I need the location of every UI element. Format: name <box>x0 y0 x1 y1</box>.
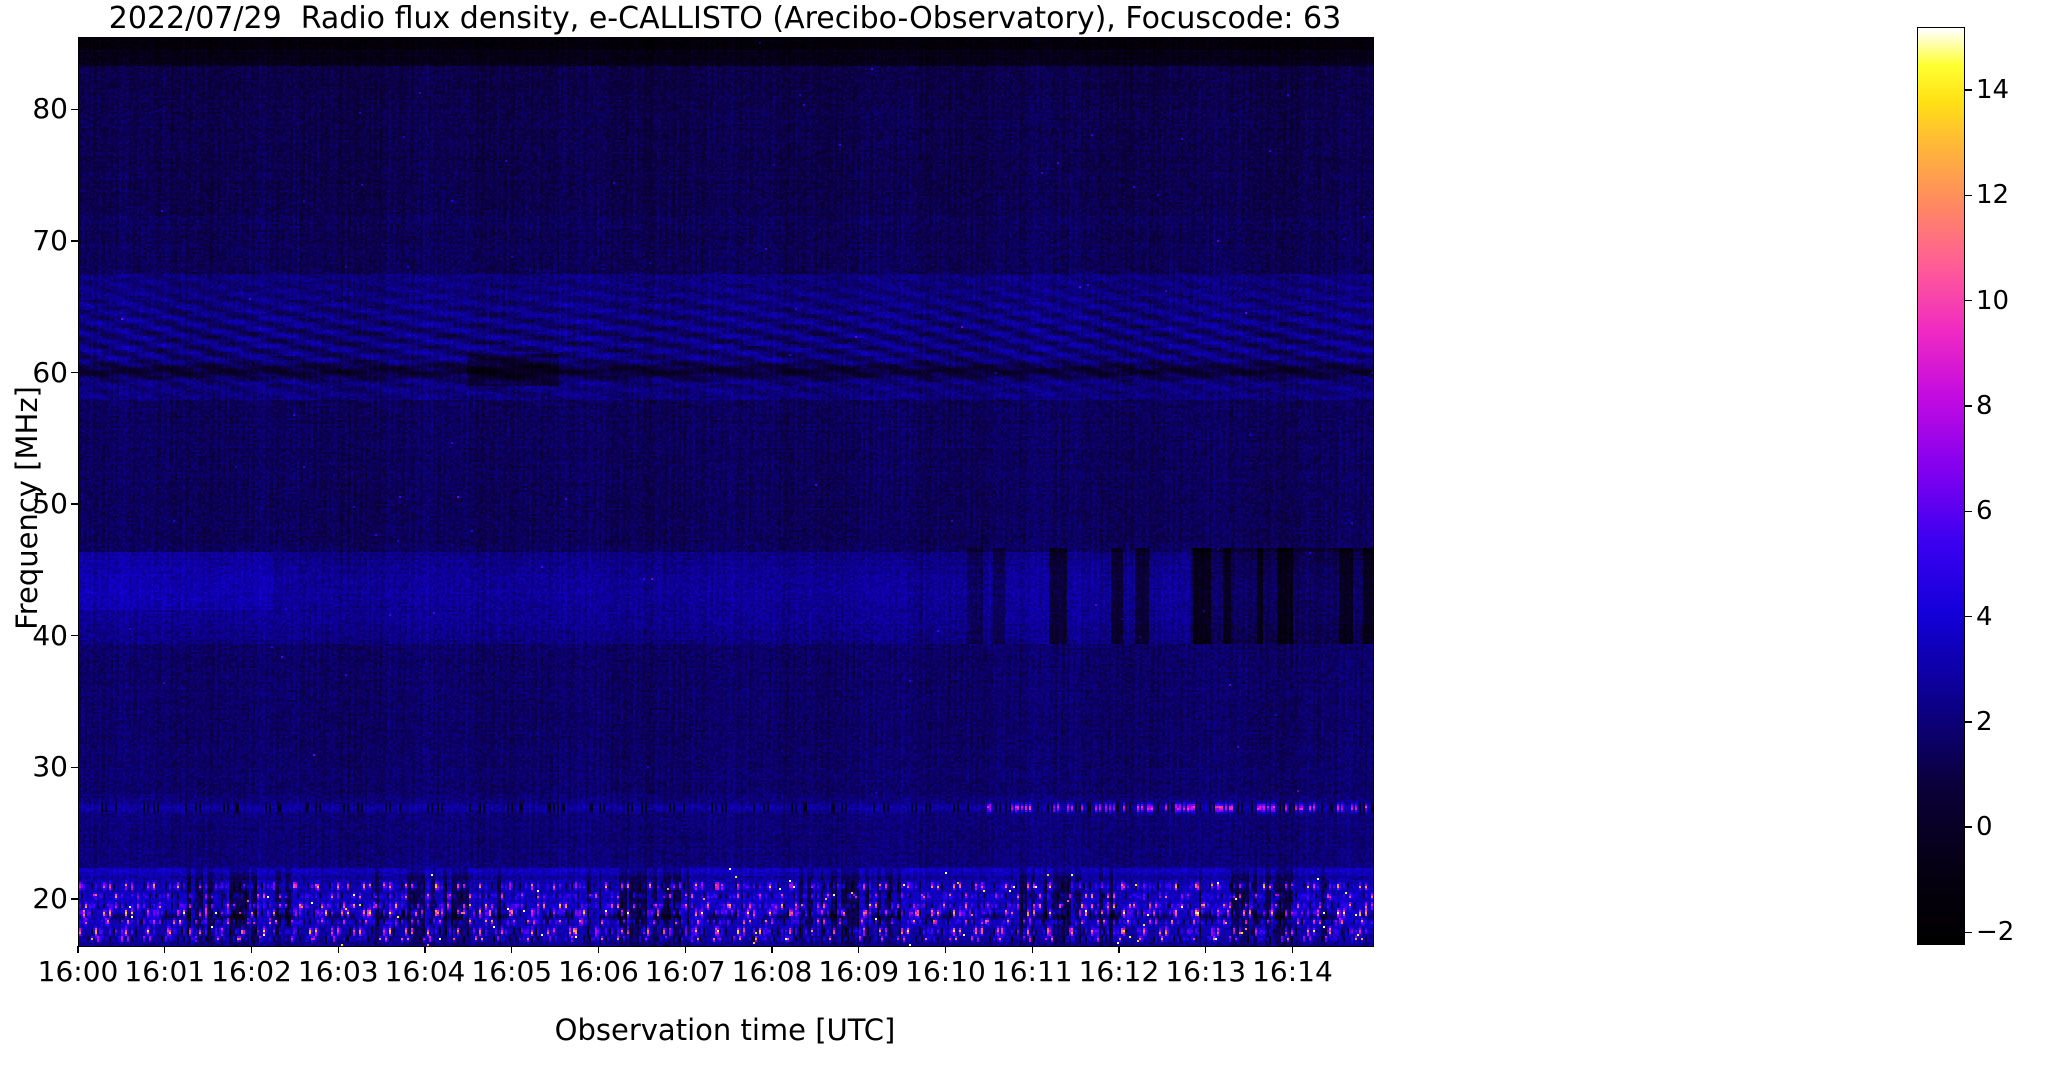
colorbar-tick-mark <box>1965 721 1972 722</box>
y-tick-mark <box>71 898 78 899</box>
x-tick-mark <box>945 946 946 953</box>
x-tick-mark <box>424 946 425 953</box>
colorbar <box>1917 27 1965 945</box>
spectrogram-image <box>79 38 1373 946</box>
colorbar-tick-label: 12 <box>1976 182 2009 208</box>
spectrogram-figure: 2022/07/29 Radio flux density, e-CALLIST… <box>0 0 2047 1067</box>
x-tick-mark <box>1292 946 1293 953</box>
x-tick-mark <box>1032 946 1033 953</box>
x-tick-mark <box>858 946 859 953</box>
y-tick-mark <box>71 240 78 241</box>
y-tick-mark <box>71 503 78 504</box>
x-tick-mark <box>598 946 599 953</box>
colorbar-tick-mark <box>1965 826 1972 827</box>
colorbar-tick-mark <box>1965 616 1972 617</box>
colorbar-tick-label: 8 <box>1976 393 1993 419</box>
colorbar-tick-mark <box>1965 405 1972 406</box>
y-axis-label: Frequency [MHz] <box>10 298 44 718</box>
x-tick-mark <box>511 946 512 953</box>
y-tick-mark <box>71 372 78 373</box>
page-title: 2022/07/29 Radio flux density, e-CALLIST… <box>78 2 1372 36</box>
colorbar-tick-label: −2 <box>1976 919 2014 945</box>
x-tick-mark <box>1205 946 1206 953</box>
colorbar-tick-mark <box>1965 511 1972 512</box>
x-tick-mark <box>77 946 78 953</box>
x-tick-mark <box>771 946 772 953</box>
y-tick-mark <box>71 109 78 110</box>
x-tick-label: 16:14 <box>1212 957 1372 987</box>
colorbar-tick-mark <box>1965 195 1972 196</box>
x-tick-mark <box>1118 946 1119 953</box>
y-tick-label: 20 <box>0 885 68 913</box>
spectrogram-plot-area <box>78 37 1374 947</box>
x-axis-label: Observation time [UTC] <box>78 1013 1372 1047</box>
colorbar-tick-mark <box>1965 89 1972 90</box>
y-tick-label: 80 <box>0 95 68 123</box>
x-tick-mark <box>251 946 252 953</box>
x-tick-mark <box>164 946 165 953</box>
y-tick-label: 70 <box>0 227 68 255</box>
colorbar-tick-label: 0 <box>1976 814 1993 840</box>
colorbar-tick-label: 10 <box>1976 288 2009 314</box>
x-tick-mark <box>685 946 686 953</box>
y-tick-mark <box>71 767 78 768</box>
colorbar-tick-label: 4 <box>1976 604 1993 630</box>
colorbar-tick-label: 2 <box>1976 709 1993 735</box>
colorbar-tick-label: 6 <box>1976 498 1993 524</box>
colorbar-gradient <box>1918 28 1964 944</box>
colorbar-tick-mark <box>1965 300 1972 301</box>
y-tick-mark <box>71 635 78 636</box>
colorbar-tick-mark <box>1965 932 1972 933</box>
x-tick-mark <box>338 946 339 953</box>
y-tick-label: 30 <box>0 753 68 781</box>
colorbar-tick-label: 14 <box>1976 77 2009 103</box>
